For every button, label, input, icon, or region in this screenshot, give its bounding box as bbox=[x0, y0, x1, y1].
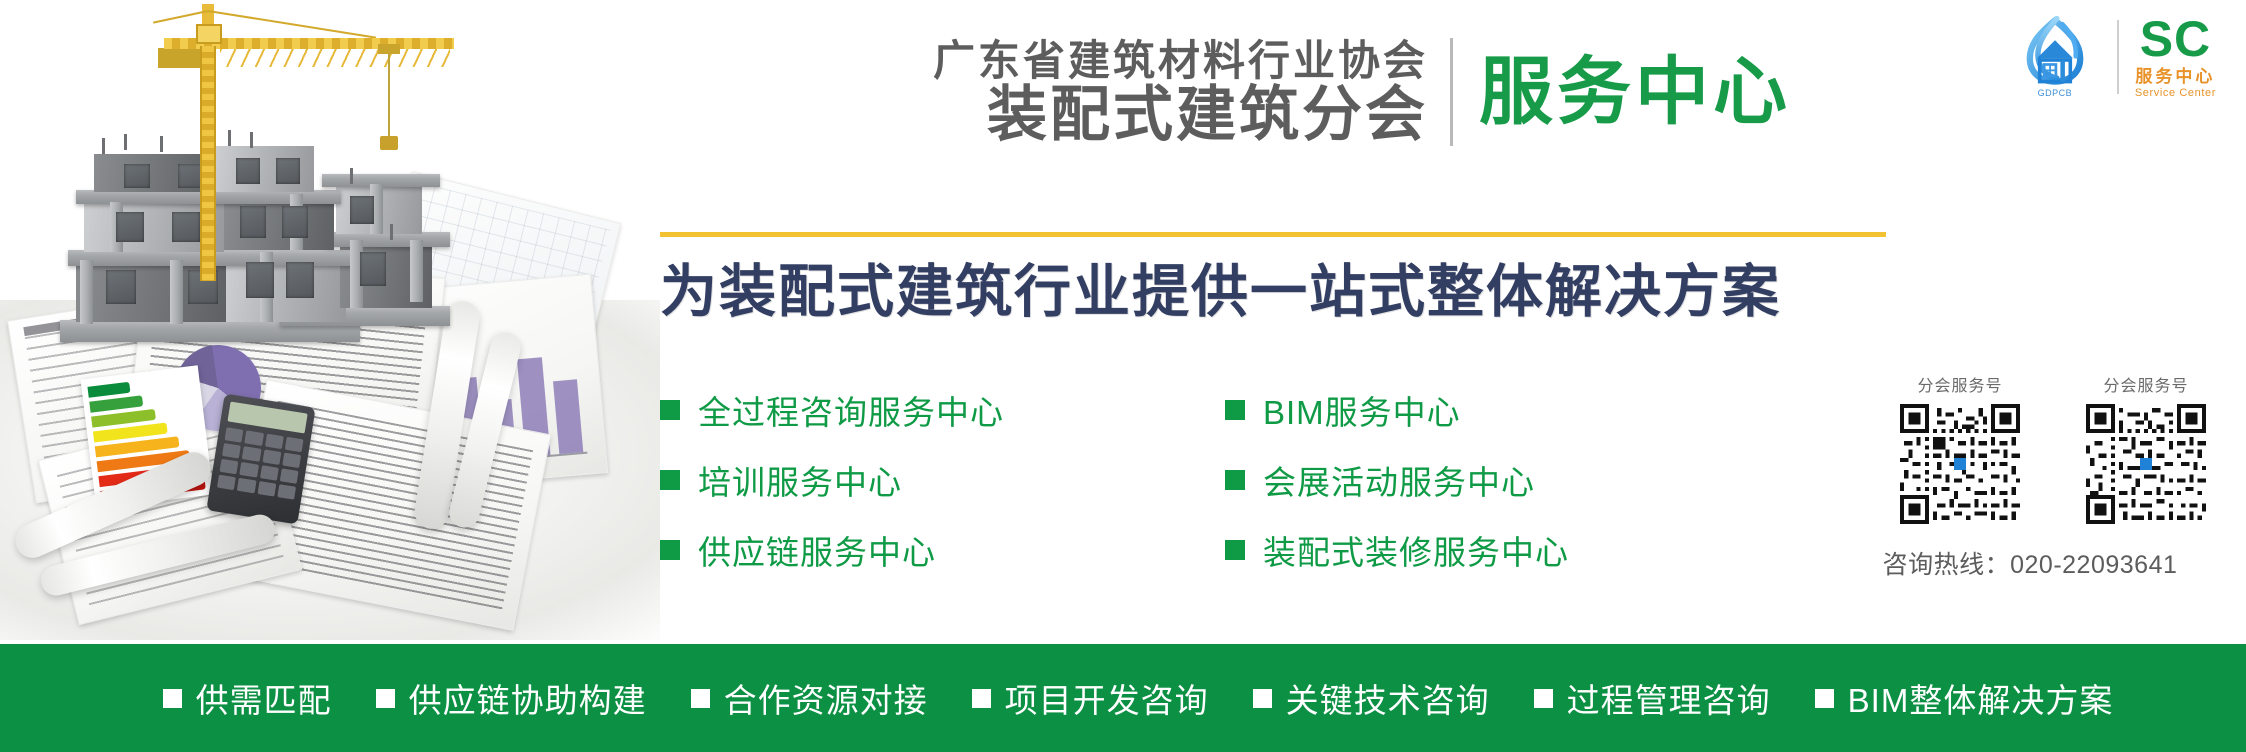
footer-item: 合作资源对接 bbox=[691, 674, 928, 722]
qr-caption: 分会服务号 bbox=[2076, 372, 2216, 396]
service-item-label: 会展活动服务中心 bbox=[1263, 456, 1535, 504]
banner-content: GDPCB SC 服务中心 Service Center 广东省建筑材料行业协会… bbox=[660, 0, 2246, 640]
association-name-line2: 装配式建筑分会 bbox=[660, 83, 1428, 146]
service-column-left: 全过程咨询服务中心 培训服务中心 供应链服务中心 bbox=[660, 388, 1225, 598]
service-item-label: 培训服务中心 bbox=[698, 456, 902, 504]
promotional-banner: GDPCB SC 服务中心 Service Center 广东省建筑材料行业协会… bbox=[0, 0, 2246, 752]
qr-row: 分会服务号 bbox=[1826, 372, 2216, 529]
footer-item-label: 过程管理咨询 bbox=[1567, 674, 1771, 722]
footer-item: 过程管理咨询 bbox=[1534, 674, 1771, 722]
qr-code-icon[interactable] bbox=[2086, 404, 2206, 524]
qr-code-icon[interactable] bbox=[1900, 404, 2020, 524]
square-bullet-icon bbox=[1225, 540, 1245, 560]
crane-jib-truss bbox=[220, 49, 450, 67]
square-bullet-icon bbox=[660, 540, 680, 560]
gdpcb-mark-text: GDPCB bbox=[2009, 88, 2101, 98]
construction-collage-image bbox=[0, 0, 660, 640]
footer-item-label: 合作资源对接 bbox=[724, 674, 928, 722]
service-item-label: BIM服务中心 bbox=[1263, 386, 1461, 434]
service-item: 供应链服务中心 bbox=[660, 528, 1225, 572]
service-center-title: 服务中心 bbox=[1453, 55, 1791, 129]
footer-item: 供需匹配 bbox=[163, 674, 332, 722]
service-item: 装配式装修服务中心 bbox=[1225, 528, 1790, 572]
footer-item-label: 项目开发咨询 bbox=[1005, 674, 1209, 722]
qr-caption: 分会服务号 bbox=[1890, 372, 2030, 396]
gold-divider-rule bbox=[660, 232, 1886, 237]
footer-item-label: BIM整体解决方案 bbox=[1848, 674, 2114, 722]
calculator-keys bbox=[217, 427, 304, 499]
square-bullet-icon bbox=[972, 689, 991, 708]
service-item: BIM服务中心 bbox=[1225, 388, 1790, 432]
qr-and-hotline-block: 分会服务号 bbox=[1826, 372, 2216, 581]
service-column-right: BIM服务中心 会展活动服务中心 装配式装修服务中心 bbox=[1225, 388, 1790, 598]
title-block: 广东省建筑材料行业协会 装配式建筑分会 服务中心 bbox=[660, 38, 1890, 146]
square-bullet-icon bbox=[660, 470, 680, 490]
logo-cluster: GDPCB SC 服务中心 Service Center bbox=[2009, 14, 2216, 99]
gdpcb-logo: GDPCB bbox=[2009, 15, 2101, 98]
tower-crane-graphic bbox=[140, 8, 470, 308]
square-bullet-icon bbox=[163, 689, 182, 708]
square-bullet-icon bbox=[1253, 689, 1272, 708]
qr-cell: 分会服务号 bbox=[1890, 372, 2030, 529]
crane-stay bbox=[153, 10, 208, 24]
service-center-lists: 全过程咨询服务中心 培训服务中心 供应链服务中心 BIM服务中心 bbox=[660, 388, 1800, 598]
service-center-logo: SC 服务中心 Service Center bbox=[2135, 14, 2216, 99]
association-name-line1: 广东省建筑材料行业协会 bbox=[660, 38, 1428, 83]
footer-item-label: 关键技术咨询 bbox=[1286, 674, 1490, 722]
footer-item-label: 供需匹配 bbox=[196, 674, 332, 722]
service-item: 培训服务中心 bbox=[660, 458, 1225, 502]
crane-mast bbox=[200, 46, 216, 281]
sc-abbreviation: SC bbox=[2135, 14, 2216, 64]
square-bullet-icon bbox=[1815, 689, 1834, 708]
headline-slogan: 为装配式建筑行业提供一站式整体解决方案 bbox=[660, 258, 2060, 326]
footer-item: 供应链协助构建 bbox=[376, 674, 647, 722]
sc-chinese-label: 服务中心 bbox=[2135, 68, 2216, 85]
association-names: 广东省建筑材料行业协会 装配式建筑分会 bbox=[660, 38, 1450, 146]
crane-counterweight bbox=[158, 48, 202, 68]
service-item: 全过程咨询服务中心 bbox=[660, 388, 1225, 432]
footer-item-label: 供应链协助构建 bbox=[409, 674, 647, 722]
service-item-label: 装配式装修服务中心 bbox=[1263, 526, 1569, 574]
footer-item: 项目开发咨询 bbox=[972, 674, 1209, 722]
square-bullet-icon bbox=[1225, 470, 1245, 490]
consultation-hotline: 咨询热线：020-22093641 bbox=[1826, 545, 2216, 581]
service-item: 会展活动服务中心 bbox=[1225, 458, 1790, 502]
square-bullet-icon bbox=[1534, 689, 1553, 708]
footer-service-bar: 供需匹配 供应链协助构建 合作资源对接 项目开发咨询 关键技术咨询 过程管理咨询… bbox=[0, 644, 2246, 752]
service-item-label: 全过程咨询服务中心 bbox=[698, 386, 1004, 434]
crane-hook bbox=[380, 136, 398, 150]
sc-english-label: Service Center bbox=[2135, 88, 2216, 99]
crane-hoist-line bbox=[388, 53, 390, 139]
house-flame-icon bbox=[2009, 15, 2101, 87]
square-bullet-icon bbox=[660, 400, 680, 420]
service-item-label: 供应链服务中心 bbox=[698, 526, 936, 574]
crane-cab bbox=[196, 24, 222, 44]
qr-cell: 分会服务号 bbox=[2076, 372, 2216, 529]
square-bullet-icon bbox=[1225, 400, 1245, 420]
logo-divider bbox=[2117, 20, 2119, 94]
crane-stay bbox=[208, 10, 376, 39]
footer-item: 关键技术咨询 bbox=[1253, 674, 1490, 722]
square-bullet-icon bbox=[691, 689, 710, 708]
crane-apex bbox=[202, 4, 214, 26]
calculator-icon bbox=[206, 394, 315, 525]
footer-item: BIM整体解决方案 bbox=[1815, 674, 2114, 722]
square-bullet-icon bbox=[376, 689, 395, 708]
